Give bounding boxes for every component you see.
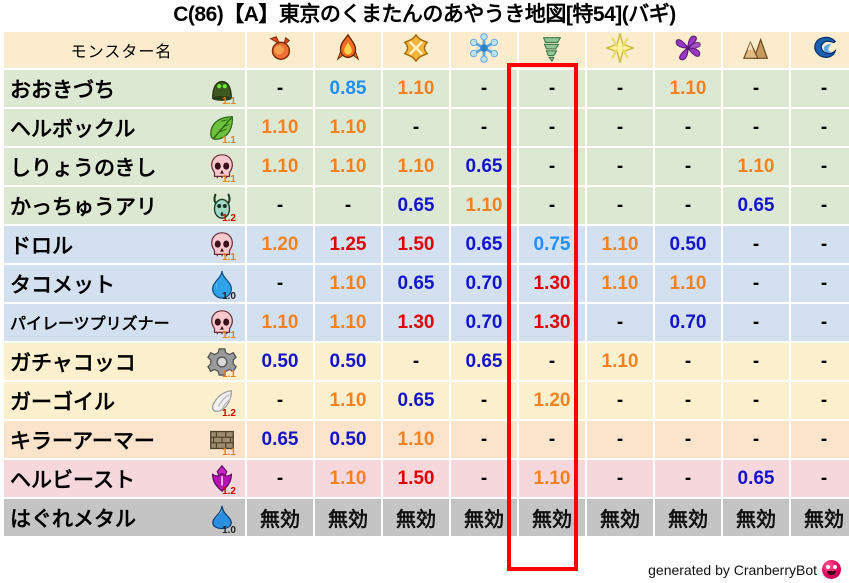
footer-text: generated by CranberryBot — [648, 562, 817, 578]
resistance-cell: 0.70 — [655, 304, 721, 341]
resistance-cell: 0.50 — [247, 343, 313, 380]
resistance-cell: - — [791, 460, 849, 497]
resistance-cell: 1.25 — [315, 226, 381, 263]
resistance-cell: 無効 — [451, 499, 517, 536]
resistance-cell: 0.85 — [315, 70, 381, 107]
page-title: C(86)【A】東京のくまたんのあやうき地図[特54](バギ) — [0, 0, 849, 30]
cranberry-icon — [822, 560, 841, 579]
resistance-cell: - — [587, 421, 653, 458]
resistance-cell: 1.30 — [519, 265, 585, 302]
resistance-cell: - — [655, 421, 721, 458]
resistance-cell: - — [723, 304, 789, 341]
explosion-icon — [401, 33, 431, 63]
resistance-cell: - — [315, 187, 381, 224]
monster-name-cell[interactable]: ガチャコッコ1.1 — [4, 343, 245, 380]
table-row[interactable]: キラーアーマー1.10.650.501.10------ — [4, 421, 849, 458]
resistance-cell: - — [383, 109, 449, 146]
monster-level-multiplier: 1.1 — [222, 136, 236, 146]
light-icon — [605, 33, 635, 63]
resistance-table-wrapper: モンスター名 おおきづち1.1-0.851.10---1.10--ヘルボックル1… — [0, 30, 849, 538]
resistance-cell: - — [587, 304, 653, 341]
resistance-cell: - — [791, 343, 849, 380]
resistance-cell: 1.10 — [655, 265, 721, 302]
resistance-cell: 1.10 — [315, 109, 381, 146]
monster-level-multiplier: 1.1 — [222, 97, 236, 107]
resistance-cell: 1.10 — [247, 304, 313, 341]
column-header-dark — [655, 32, 721, 68]
table-body: おおきづち1.1-0.851.10---1.10--ヘルボックル1.11.101… — [4, 70, 849, 536]
resistance-cell: 1.10 — [247, 109, 313, 146]
resistance-cell: - — [723, 265, 789, 302]
table-header-row: モンスター名 — [4, 32, 849, 68]
column-header-flame — [315, 32, 381, 68]
monster-name-label: ドロル — [10, 230, 73, 260]
earth-icon — [741, 33, 771, 63]
snowflake-icon — [469, 33, 499, 63]
flame-icon — [333, 33, 363, 63]
resistance-cell: 1.10 — [451, 187, 517, 224]
resistance-cell: - — [451, 109, 517, 146]
resistance-cell: - — [655, 343, 721, 380]
resistance-cell: 0.50 — [315, 343, 381, 380]
wing-icon: 1.2 — [205, 384, 239, 418]
resistance-cell: - — [451, 70, 517, 107]
trident-icon: 1.2 — [205, 462, 239, 496]
resistance-cell: 1.10 — [655, 70, 721, 107]
resistance-cell: - — [247, 382, 313, 419]
monster-level-multiplier: 1.2 — [222, 409, 236, 419]
monster-level-multiplier: 1.1 — [222, 331, 236, 341]
monster-name-cell[interactable]: かっちゅうアリ1.2 — [4, 187, 245, 224]
column-header-earth — [723, 32, 789, 68]
monster-name-label: ヘルビースト — [10, 464, 135, 494]
resistance-cell: - — [247, 460, 313, 497]
resistance-cell: - — [519, 70, 585, 107]
resistance-cell: - — [791, 70, 849, 107]
water-icon — [809, 33, 839, 63]
monster-level-multiplier: 1.0 — [222, 292, 236, 302]
resistance-cell: - — [519, 148, 585, 185]
resistance-cell: 1.30 — [383, 304, 449, 341]
resistance-cell: 1.10 — [383, 70, 449, 107]
resistance-cell: - — [655, 109, 721, 146]
monster-level-multiplier: 1.2 — [222, 487, 236, 497]
table-row[interactable]: おおきづち1.1-0.851.10---1.10-- — [4, 70, 849, 107]
resistance-cell: - — [519, 343, 585, 380]
resistance-cell: 1.50 — [383, 226, 449, 263]
monster-name-cell[interactable]: おおきづち1.1 — [4, 70, 245, 107]
column-header-light — [587, 32, 653, 68]
skull-icon: 1.1 — [205, 150, 239, 184]
resistance-cell: 無効 — [791, 499, 849, 536]
resistance-cell: 1.10 — [315, 265, 381, 302]
table-row[interactable]: ヘルボックル1.11.101.10------- — [4, 109, 849, 146]
resistance-cell: 0.70 — [451, 265, 517, 302]
droplet-icon: 1.0 — [205, 267, 239, 301]
monster-name-label: キラーアーマー — [10, 425, 155, 455]
resistance-cell: 1.50 — [383, 460, 449, 497]
resistance-cell: 無効 — [655, 499, 721, 536]
meteor-icon — [265, 33, 295, 63]
brick-icon: 1.1 — [205, 423, 239, 457]
resistance-cell: 無効 — [383, 499, 449, 536]
resistance-cell: - — [791, 304, 849, 341]
resistance-cell: - — [791, 265, 849, 302]
resistance-cell: 無効 — [519, 499, 585, 536]
monster-name-cell[interactable]: パイレーツプリズナー1.1 — [4, 304, 245, 341]
table-row[interactable]: かっちゅうアリ1.2--0.651.10---0.65- — [4, 187, 849, 224]
monster-name-cell[interactable]: ガーゴイル1.2 — [4, 382, 245, 419]
resistance-cell: - — [587, 70, 653, 107]
resistance-cell: - — [791, 421, 849, 458]
resistance-cell: 0.50 — [315, 421, 381, 458]
resistance-cell: 1.10 — [315, 304, 381, 341]
resistance-cell: 0.65 — [451, 148, 517, 185]
resistance-cell: 0.70 — [451, 304, 517, 341]
table-header: モンスター名 — [4, 32, 849, 68]
resistance-cell: - — [247, 70, 313, 107]
column-header-explosion — [383, 32, 449, 68]
monster-name-cell[interactable]: ヘルビースト1.2 — [4, 460, 245, 497]
bug-icon: 1.2 — [205, 189, 239, 223]
resistance-cell: - — [723, 421, 789, 458]
table-row[interactable]: ガチャコッコ1.10.500.50-0.65-1.10--- — [4, 343, 849, 380]
skull-icon: 1.1 — [205, 228, 239, 262]
resistance-cell: - — [655, 382, 721, 419]
resistance-cell: 1.30 — [519, 304, 585, 341]
resistance-cell: - — [723, 343, 789, 380]
resistance-cell: - — [723, 70, 789, 107]
monster-name-cell[interactable]: はぐれメタル1.0 — [4, 499, 245, 536]
resistance-cell: - — [655, 148, 721, 185]
footer-credit: generated by CranberryBot — [648, 560, 841, 579]
table-row[interactable]: ヘルビースト1.2-1.101.50-1.10--0.65- — [4, 460, 849, 497]
monster-name-cell[interactable]: キラーアーマー1.1 — [4, 421, 245, 458]
resistance-cell: 1.10 — [587, 226, 653, 263]
resistance-cell: 1.10 — [383, 148, 449, 185]
resistance-cell: - — [791, 109, 849, 146]
resistance-cell: 0.65 — [383, 187, 449, 224]
resistance-cell: - — [247, 265, 313, 302]
resistance-cell: - — [247, 187, 313, 224]
resistance-cell: 0.65 — [383, 265, 449, 302]
resistance-cell: - — [451, 382, 517, 419]
resistance-cell: - — [655, 187, 721, 224]
resistance-cell: 無効 — [723, 499, 789, 536]
table-row[interactable]: タコメット1.0-1.100.650.701.301.101.10-- — [4, 265, 849, 302]
resistance-cell: - — [587, 109, 653, 146]
column-header-tornado — [519, 32, 585, 68]
tornado-icon — [537, 33, 567, 63]
table-row[interactable]: パイレーツプリズナー1.11.101.101.300.701.30-0.70-- — [4, 304, 849, 341]
resistance-cell: 1.10 — [247, 148, 313, 185]
monster-name-label: パイレーツプリズナー — [10, 310, 170, 334]
monster-level-multiplier: 1.1 — [222, 448, 236, 458]
skull-icon: 1.1 — [205, 306, 239, 340]
slime-green-icon: 1.1 — [205, 72, 239, 106]
resistance-cell: 1.10 — [383, 421, 449, 458]
resistance-cell: - — [383, 343, 449, 380]
resistance-cell: 1.10 — [315, 460, 381, 497]
resistance-cell: 0.65 — [451, 343, 517, 380]
monster-name-label: ガチャコッコ — [10, 347, 136, 377]
resistance-cell: - — [723, 109, 789, 146]
resistance-cell: - — [791, 187, 849, 224]
resistance-cell: 1.10 — [587, 343, 653, 380]
gear-icon: 1.1 — [205, 345, 239, 379]
resistance-cell: 1.20 — [519, 382, 585, 419]
monster-name-label: タコメット — [10, 269, 115, 299]
resistance-cell: 0.65 — [723, 187, 789, 224]
resistance-cell: - — [519, 187, 585, 224]
resistance-table: モンスター名 おおきづち1.1-0.851.10---1.10--ヘルボックル1… — [2, 30, 849, 538]
dark-icon — [673, 33, 703, 63]
monster-level-multiplier: 1.1 — [222, 175, 236, 185]
resistance-cell: 1.10 — [315, 148, 381, 185]
resistance-cell: - — [791, 226, 849, 263]
monster-name-cell[interactable]: ドロル1.1 — [4, 226, 245, 263]
monster-name-cell[interactable]: しりょうのきし1.1 — [4, 148, 245, 185]
slime-blue-icon: 1.0 — [205, 501, 239, 535]
resistance-cell: 1.10 — [315, 382, 381, 419]
table-row[interactable]: しりょうのきし1.11.101.101.100.65---1.10- — [4, 148, 849, 185]
resistance-cell: 0.50 — [655, 226, 721, 263]
monster-name-label: おおきづち — [10, 74, 115, 104]
column-header-snowflake — [451, 32, 517, 68]
monster-level-multiplier: 1.0 — [222, 526, 236, 536]
resistance-cell: 0.75 — [519, 226, 585, 263]
column-header-meteor — [247, 32, 313, 68]
resistance-cell: - — [791, 148, 849, 185]
resistance-cell: 0.65 — [383, 382, 449, 419]
resistance-cell: 無効 — [315, 499, 381, 536]
table-row[interactable]: ドロル1.11.201.251.500.650.751.100.50-- — [4, 226, 849, 263]
resistance-cell: - — [519, 421, 585, 458]
resistance-cell: 0.65 — [451, 226, 517, 263]
resistance-cell: - — [587, 148, 653, 185]
resistance-cell: - — [723, 226, 789, 263]
resistance-cell: 0.65 — [723, 460, 789, 497]
resistance-cell: 1.10 — [587, 265, 653, 302]
resistance-cell: 1.10 — [723, 148, 789, 185]
monster-name-label: かっちゅうアリ — [10, 191, 157, 221]
monster-name-label: はぐれメタル — [10, 503, 136, 533]
resistance-cell: - — [655, 460, 721, 497]
monster-level-multiplier: 1.1 — [222, 370, 236, 380]
resistance-cell: 1.10 — [519, 460, 585, 497]
resistance-cell: - — [587, 187, 653, 224]
monster-name-cell[interactable]: タコメット1.0 — [4, 265, 245, 302]
table-row[interactable]: ガーゴイル1.2-1.100.65-1.20---- — [4, 382, 849, 419]
resistance-cell: - — [519, 109, 585, 146]
resistance-cell: - — [723, 382, 789, 419]
monster-level-multiplier: 1.2 — [222, 214, 236, 224]
table-row[interactable]: はぐれメタル1.0無効無効無効無効無効無効無効無効無効 — [4, 499, 849, 536]
resistance-cell: - — [791, 382, 849, 419]
resistance-cell: 無効 — [587, 499, 653, 536]
leaf-icon: 1.1 — [205, 111, 239, 145]
resistance-cell: - — [451, 460, 517, 497]
resistance-cell: 0.65 — [247, 421, 313, 458]
monster-name-cell[interactable]: ヘルボックル1.1 — [4, 109, 245, 146]
monster-name-label: しりょうのきし — [10, 152, 156, 182]
monster-name-label: ヘルボックル — [10, 113, 135, 143]
resistance-cell: - — [451, 421, 517, 458]
column-header-water — [791, 32, 849, 68]
resistance-cell: - — [587, 382, 653, 419]
resistance-cell: - — [587, 460, 653, 497]
column-header-name: モンスター名 — [4, 32, 245, 68]
monster-level-multiplier: 1.1 — [222, 253, 236, 263]
monster-name-label: ガーゴイル — [10, 386, 115, 416]
resistance-cell: 1.20 — [247, 226, 313, 263]
resistance-cell: 無効 — [247, 499, 313, 536]
